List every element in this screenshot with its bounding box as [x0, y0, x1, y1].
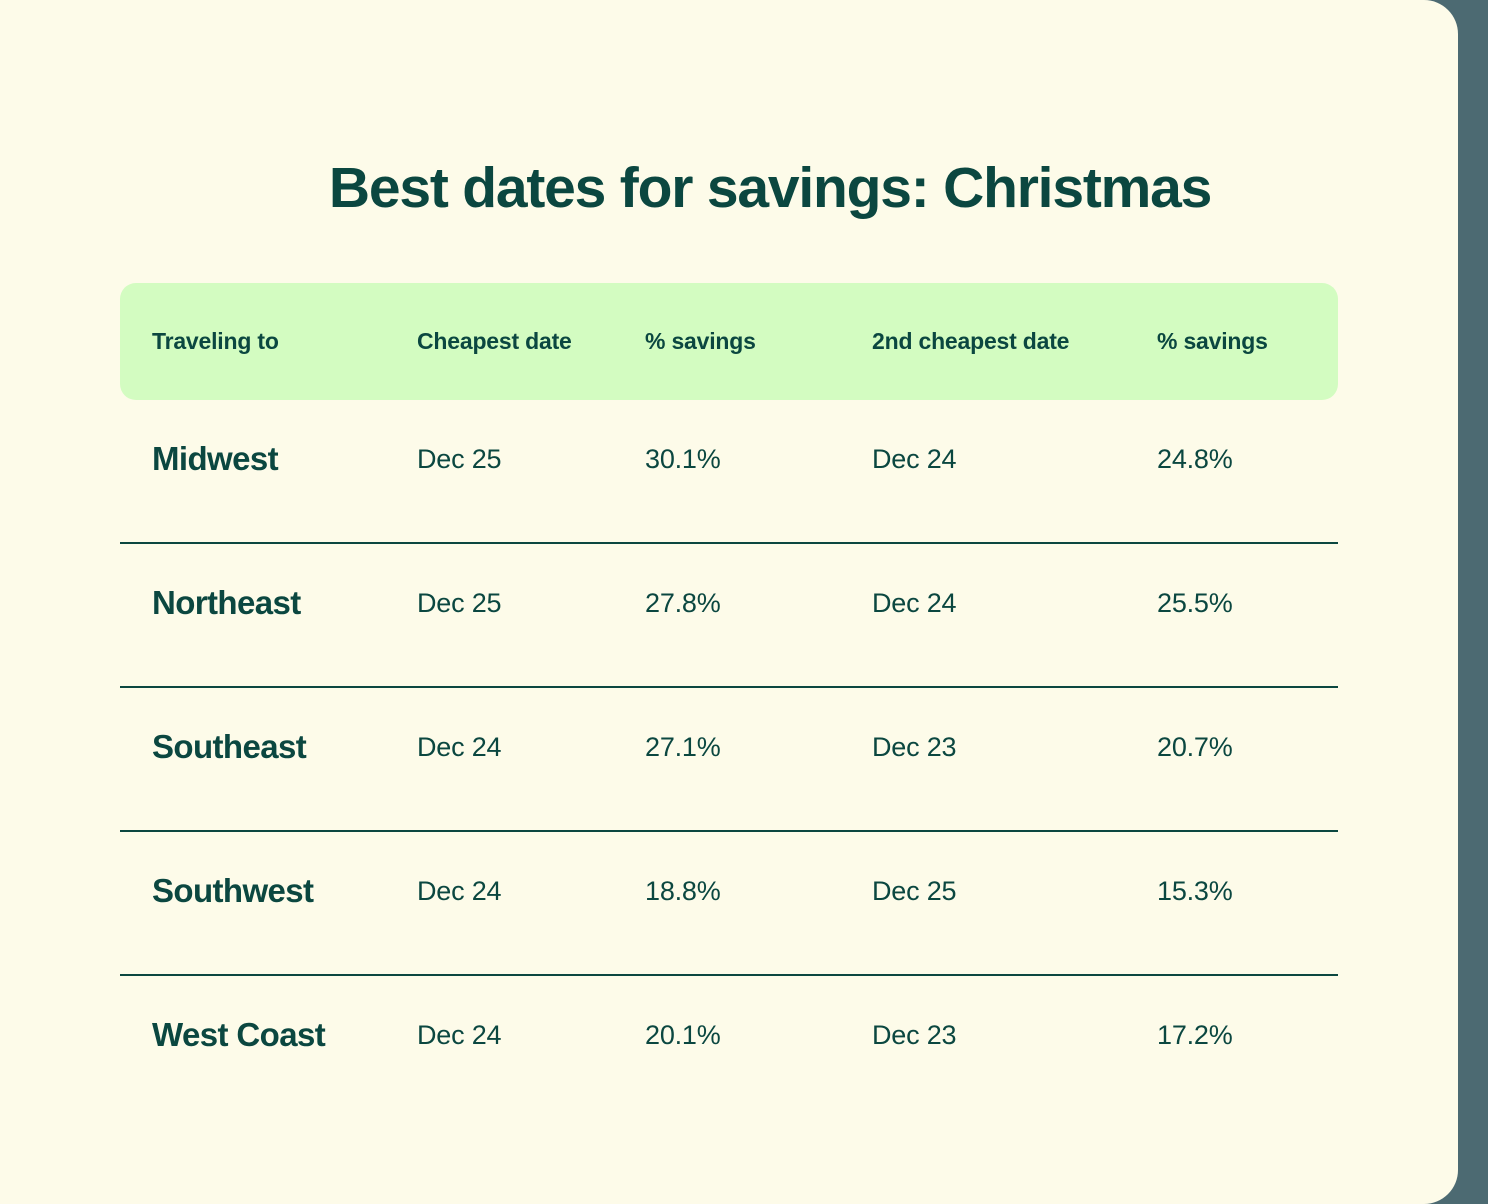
column-header-savings-1: % savings: [645, 283, 756, 400]
cell-region: Midwest: [152, 400, 278, 518]
content-card: Best dates for savings: Christmas Travel…: [0, 0, 1458, 1204]
cell-cheapest-savings: 18.8%: [645, 832, 721, 950]
cell-region: Southwest: [152, 832, 313, 950]
table-row: Southwest Dec 24 18.8% Dec 25 15.3%: [120, 832, 1338, 976]
table-row: Southeast Dec 24 27.1% Dec 23 20.7%: [120, 688, 1338, 832]
cell-cheapest-date: Dec 25: [417, 544, 501, 662]
cell-second-cheapest-date: Dec 24: [872, 544, 956, 662]
page-title: Best dates for savings: Christmas: [220, 157, 1320, 220]
cell-second-cheapest-savings: 20.7%: [1157, 688, 1233, 806]
cell-second-cheapest-date: Dec 23: [872, 688, 956, 806]
cell-cheapest-savings: 27.8%: [645, 544, 721, 662]
cell-region: Southeast: [152, 688, 306, 806]
column-header-cheapest-date: Cheapest date: [417, 283, 572, 400]
cell-cheapest-savings: 27.1%: [645, 688, 721, 806]
cell-region: Northeast: [152, 544, 301, 662]
cell-second-cheapest-savings: 25.5%: [1157, 544, 1233, 662]
cell-second-cheapest-date: Dec 25: [872, 832, 956, 950]
cell-second-cheapest-date: Dec 24: [872, 400, 956, 518]
column-header-second-cheapest-date: 2nd cheapest date: [872, 283, 1069, 400]
savings-table: Traveling to Cheapest date % savings 2nd…: [120, 283, 1338, 1120]
column-header-savings-2: % savings: [1157, 283, 1268, 400]
column-header-traveling-to: Traveling to: [152, 283, 279, 400]
cell-cheapest-savings: 20.1%: [645, 976, 721, 1094]
cell-region: West Coast: [152, 976, 325, 1094]
cell-cheapest-date: Dec 24: [417, 976, 501, 1094]
table-row: Midwest Dec 25 30.1% Dec 24 24.8%: [120, 400, 1338, 544]
table-header-row: Traveling to Cheapest date % savings 2nd…: [120, 283, 1338, 400]
cell-cheapest-date: Dec 24: [417, 688, 501, 806]
table-row: West Coast Dec 24 20.1% Dec 23 17.2%: [120, 976, 1338, 1120]
cell-cheapest-savings: 30.1%: [645, 400, 721, 518]
cell-cheapest-date: Dec 25: [417, 400, 501, 518]
table-row: Northeast Dec 25 27.8% Dec 24 25.5%: [120, 544, 1338, 688]
cell-second-cheapest-date: Dec 23: [872, 976, 956, 1094]
cell-second-cheapest-savings: 15.3%: [1157, 832, 1233, 950]
cell-second-cheapest-savings: 17.2%: [1157, 976, 1233, 1094]
cell-cheapest-date: Dec 24: [417, 832, 501, 950]
cell-second-cheapest-savings: 24.8%: [1157, 400, 1233, 518]
